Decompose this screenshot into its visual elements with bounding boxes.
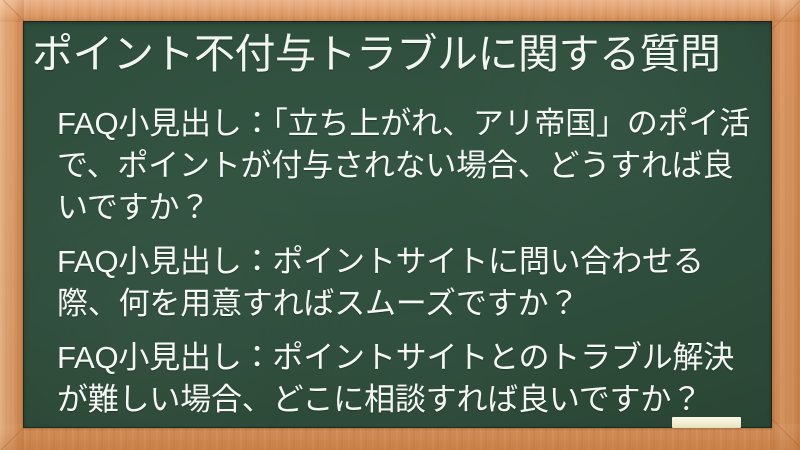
faq-question-1: FAQ小見出し：「立ち上がれ、アリ帝国」のポイ活で、ポイントが付与されない場合、… xyxy=(57,103,757,229)
chalkboard-slide: ポイント不付与トラブルに関する質問 FAQ小見出し：「立ち上がれ、アリ帝国」のポ… xyxy=(0,0,800,450)
chalk-stick-icon xyxy=(672,417,741,428)
faq-question-3: FAQ小見出し：ポイントサイトとのトラブル解決が難しい場合、どこに相談すれば良い… xyxy=(57,337,757,421)
faq-question-list: FAQ小見出し：「立ち上がれ、アリ帝国」のポイ活で、ポイントが付与されない場合、… xyxy=(57,103,757,421)
faq-question-2: FAQ小見出し：ポイントサイトに問い合わせる際、何を用意すればスムーズですか？ xyxy=(57,241,757,325)
chalkboard-surface: ポイント不付与トラブルに関する質問 FAQ小見出し：「立ち上がれ、アリ帝国」のポ… xyxy=(23,21,772,428)
page-title: ポイント不付与トラブルに関する質問 xyxy=(32,29,762,79)
